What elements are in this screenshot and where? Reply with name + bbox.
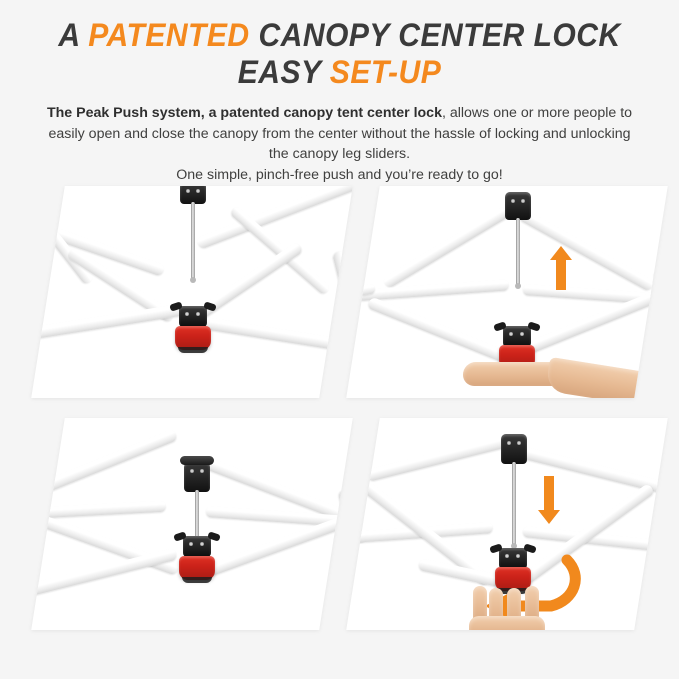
- hub-bolt-icon: [185, 312, 189, 316]
- page-title-line-1: A PATENTED CANOPY CENTER LOCK: [20, 18, 658, 54]
- arrow-head: [538, 510, 560, 524]
- hub-wing-icon: [173, 531, 187, 541]
- description-paragraph: The Peak Push system, a patented canopy …: [40, 103, 640, 187]
- title-highlight-patented: PATENTED: [88, 17, 249, 53]
- product-feature-infographic: A PATENTED CANOPY CENTER LOCK EASY SET-U…: [0, 0, 679, 679]
- frame-tube: [203, 317, 353, 358]
- hub-bolt-icon: [520, 332, 524, 336]
- frame-tube: [31, 429, 178, 504]
- frame-tube: [665, 473, 668, 630]
- frame-tube: [367, 296, 509, 363]
- forearm: [545, 357, 667, 398]
- arrow-shaft: [556, 258, 566, 290]
- frame-tube: [191, 241, 304, 323]
- canopy-top-hub: [505, 192, 531, 220]
- center-pull-rod: [516, 218, 520, 286]
- title-suffix: CANOPY CENTER LOCK: [250, 17, 621, 53]
- hub-bolt-icon: [190, 469, 194, 473]
- panel-top-left: [31, 186, 353, 398]
- arrow-shaft: [544, 476, 554, 510]
- frame-tube: [518, 209, 655, 292]
- subtitle-prefix: EASY: [238, 54, 330, 90]
- description-closing: One simple, pinch-free push and you’re r…: [176, 167, 503, 183]
- frame-tube: [31, 548, 177, 608]
- subtitle-highlight-setup: SET-UP: [330, 54, 441, 90]
- center-pull-rod: [512, 462, 516, 546]
- panel-bottom-left: [31, 418, 353, 630]
- hub-bolt-icon: [517, 441, 521, 445]
- heading-block: A PATENTED CANOPY CENTER LOCK EASY SET-U…: [0, 0, 679, 91]
- arrow-up-icon: [550, 246, 572, 292]
- frame-tube: [346, 212, 362, 256]
- panel-top-left-art: [31, 186, 353, 398]
- canopy-top-hub: [184, 462, 210, 492]
- title-prefix: A: [58, 17, 88, 53]
- center-lock-hub: [179, 306, 207, 327]
- hub-wing-icon: [493, 321, 507, 331]
- hub-bolt-icon: [509, 332, 513, 336]
- panel-top-right: [346, 186, 668, 398]
- canopy-top-hub: [501, 434, 527, 464]
- frame-tube: [31, 304, 183, 346]
- hub-bolt-icon: [200, 542, 204, 546]
- hub-bolt-icon: [516, 554, 520, 558]
- frame-tube: [653, 268, 668, 398]
- hub-bolt-icon: [189, 542, 193, 546]
- hub-bolt-icon: [507, 441, 511, 445]
- hub-bolt-icon: [186, 189, 190, 193]
- palm-back: [469, 616, 545, 630]
- center-lock-hub: [503, 326, 531, 347]
- center-pull-rod: [195, 490, 199, 540]
- hub-bolt-icon: [511, 199, 515, 203]
- frame-tube: [357, 279, 509, 301]
- hub-wing-icon: [207, 531, 221, 541]
- description-bold-lead: The Peak Push system, a patented canopy …: [47, 105, 442, 121]
- hub-bolt-icon: [196, 189, 200, 193]
- hub-bolt-icon: [505, 554, 509, 558]
- hub-wing-icon: [527, 321, 541, 331]
- red-center-lock-puck: [175, 326, 211, 350]
- hub-bolt-icon: [196, 312, 200, 316]
- hub-bolt-icon: [521, 199, 525, 203]
- red-center-lock-puck: [179, 556, 215, 580]
- hub-bolt-icon: [200, 469, 204, 473]
- hub-wing-icon: [169, 301, 183, 311]
- panel-bottom-right: [346, 418, 668, 630]
- center-pull-rod: [191, 202, 195, 280]
- frame-tube: [346, 270, 357, 295]
- panel-bottom-right-art: [346, 418, 668, 630]
- frame-tube: [382, 206, 510, 289]
- hub-wing-icon: [523, 543, 537, 553]
- hub-wing-icon: [489, 543, 503, 553]
- arrow-down-icon: [538, 476, 560, 524]
- panel-grid: [0, 186, 679, 631]
- frame-tube: [366, 432, 522, 482]
- panel-bottom-left-art: [31, 418, 353, 630]
- center-lock-hub: [183, 536, 211, 557]
- panel-top-right-art: [346, 186, 668, 398]
- center-lock-hub: [499, 548, 527, 569]
- page-title-line-2: EASY SET-UP: [20, 55, 658, 91]
